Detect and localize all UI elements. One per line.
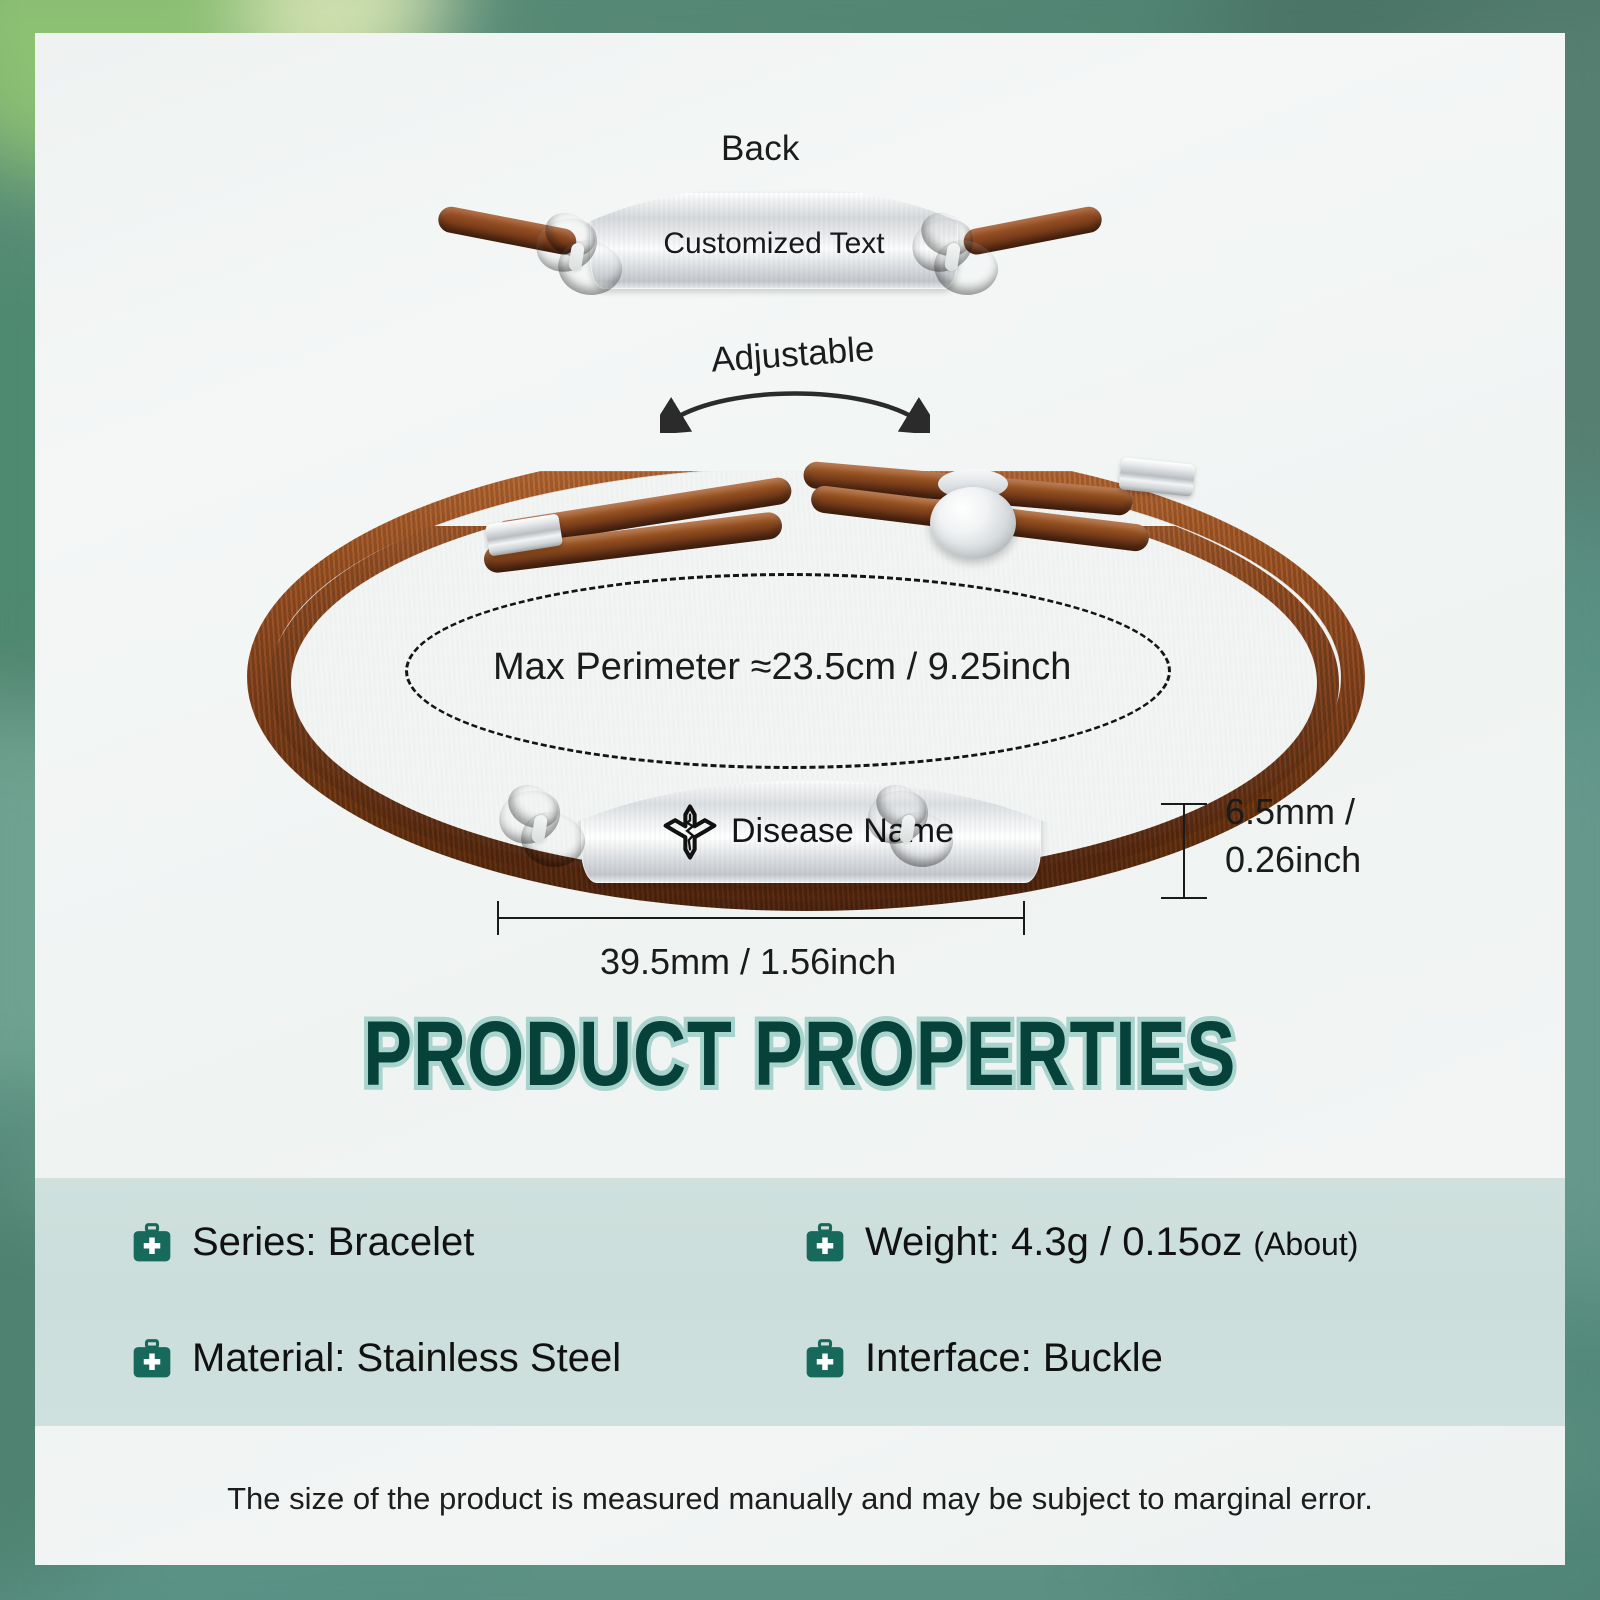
properties-band: Series: Bracelet Weight: 4.3g / 0.15oz (… — [35, 1178, 1565, 1426]
back-label: Back — [721, 129, 800, 169]
height-dimension-label-2: 0.26inch — [1225, 839, 1361, 881]
back-plate: Customized Text — [590, 193, 958, 289]
property-label: Weight: 4.3g / 0.15oz (About) — [865, 1220, 1358, 1265]
width-dimension-cap-right — [1023, 901, 1025, 935]
medical-kit-icon — [803, 1221, 847, 1265]
knot-front-left — [497, 787, 589, 873]
medical-kit-icon — [130, 1221, 174, 1265]
max-perimeter-label: Max Perimeter ≈23.5cm / 9.25inch — [493, 646, 1071, 689]
knot-front-right — [865, 787, 957, 873]
property-item-interface: Interface: Buckle — [803, 1336, 1163, 1381]
page-title: PRODUCT PROPERTIES — [363, 1008, 1236, 1100]
disclaimer-text: The size of the product is measured manu… — [35, 1481, 1565, 1517]
customized-text: Customized Text — [590, 227, 958, 261]
star-of-life-icon — [661, 803, 719, 861]
product-illustration: Back Customized Text Adjustable — [35, 33, 1565, 1033]
properties-heading-wrap: PRODUCT PROPERTIES — [35, 1008, 1565, 1100]
property-item-series: Series: Bracelet — [130, 1220, 474, 1265]
bracelet-loop: Max Perimeter ≈23.5cm / 9.25inch Disease… — [225, 413, 1345, 883]
property-label: Interface: Buckle — [865, 1336, 1163, 1381]
width-dimension-line — [497, 917, 1025, 919]
property-item-material: Material: Stainless Steel — [130, 1336, 621, 1381]
medical-kit-icon — [803, 1337, 847, 1381]
back-bar-unit: Customized Text — [430, 173, 1110, 333]
adjustable-label: Adjustable — [710, 329, 876, 380]
knot-back-right — [910, 215, 1002, 301]
product-card: Back Customized Text Adjustable — [35, 33, 1565, 1565]
property-label: Material: Stainless Steel — [192, 1336, 621, 1381]
knot-back-left — [534, 215, 626, 301]
adjustable-slider-bead — [930, 469, 1016, 559]
width-dimension-label: 39.5mm / 1.56inch — [600, 941, 896, 983]
property-note: (About) — [1253, 1226, 1358, 1262]
infographic-root: Back Customized Text Adjustable — [0, 0, 1600, 1600]
height-dimension-label-1: 6.5mm / — [1225, 791, 1355, 833]
medical-kit-icon — [130, 1337, 174, 1381]
property-item-weight: Weight: 4.3g / 0.15oz (About) — [803, 1220, 1358, 1265]
property-label: Series: Bracelet — [192, 1220, 474, 1265]
height-dimension-line — [1183, 803, 1185, 899]
height-dimension-cap-bottom — [1161, 897, 1207, 899]
